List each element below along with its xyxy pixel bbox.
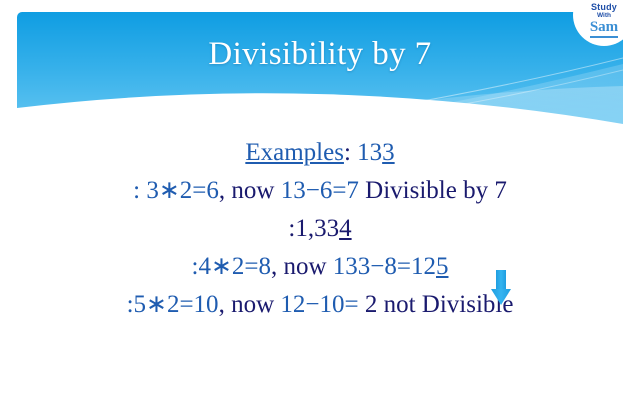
text-segment: now <box>231 177 280 204</box>
text-segment: 3∗2=6 <box>146 177 219 204</box>
text-line-step-3: :5∗2=10, now 12−10= 2 not Divisible <box>0 286 640 324</box>
text-segment: now <box>231 291 280 318</box>
text-segment: 4∗2=8 <box>198 253 271 280</box>
text-segment: 4 <box>339 215 352 242</box>
text-segment: , <box>219 291 232 318</box>
text-segment: 13 <box>357 139 382 166</box>
text-segment: Examples <box>245 139 344 166</box>
text-segment: 12−10= <box>280 291 358 318</box>
text-line-step-1: : 3∗2=6, now 13−6=7 Divisible by 7 <box>0 172 640 210</box>
logo-inner: Study With Sam <box>573 0 635 46</box>
logo-badge[interactable]: Study With Sam <box>573 0 635 46</box>
page-title: Divisibility by 7 <box>17 12 623 96</box>
text-line-example-2: :1,334 <box>0 210 640 248</box>
text-segment: : <box>133 177 146 204</box>
logo-line-study: Study <box>591 3 617 12</box>
logo-line-sam: Sam <box>590 20 618 38</box>
text-line-examples-heading: Examples: 133 <box>0 134 640 172</box>
text-segment: 5 <box>436 253 449 280</box>
slide-body: Examples: 133 : 3∗2=6, now 13−6=7 Divisi… <box>0 134 640 324</box>
text-segment: now <box>283 253 332 280</box>
down-arrow-glyph <box>490 270 512 306</box>
text-segment: 5∗2=10 <box>134 291 219 318</box>
text-segment: : <box>127 291 134 318</box>
text-segment: Divisible by 7 <box>359 177 507 204</box>
down-arrow-icon <box>490 270 512 306</box>
slide-canvas: Divisibility by 7 Study With Sam Example… <box>0 0 640 400</box>
text-segment: 1,33 <box>295 215 339 242</box>
text-segment: : <box>344 139 357 166</box>
text-segment: 13−6=7 <box>281 177 359 204</box>
text-line-step-2: :4∗2=8, now 133−8=125 <box>0 248 640 286</box>
text-segment: , <box>271 253 284 280</box>
text-segment: , <box>219 177 232 204</box>
text-segment: 3 <box>382 139 395 166</box>
header-banner: Divisibility by 7 <box>17 12 623 134</box>
text-segment: 133−8=12 <box>333 253 436 280</box>
